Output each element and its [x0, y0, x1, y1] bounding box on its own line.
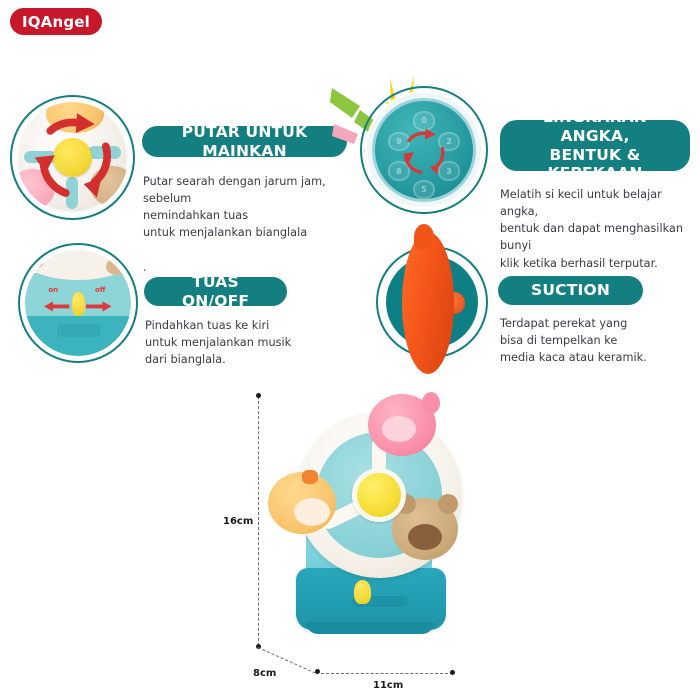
bear-muzzle: [408, 524, 442, 550]
feature-title-banner-1: PUTAR UNTUK MAINKAN: [142, 126, 347, 157]
pig-snout: [382, 416, 416, 442]
dim-dot-top: [256, 393, 261, 398]
chick-crest-icon: [302, 470, 318, 484]
feature-description-1: Putar searah dengan jarum jam, sebelum n…: [143, 173, 358, 276]
dim-dot-right: [450, 670, 455, 675]
feature-description-3: Pindahkan tuas ke kiri untuk menjalankan…: [145, 317, 345, 368]
illustration-on-off-lever: on off: [18, 243, 138, 363]
circle-outer-ring-3: [18, 243, 138, 363]
dim-line-height: [258, 396, 259, 646]
feature-title-4: SUCTION: [531, 281, 610, 300]
chick-belly: [294, 498, 330, 526]
illustration-front-wheel: [10, 95, 135, 220]
dim-dot-corner: [315, 669, 320, 674]
feature-title-2: LINGKARAN ANGKA, BENTUK & KEPEKAAN: [514, 108, 676, 184]
brand-logo: IQAngel: [10, 8, 102, 35]
illustration-suction-cup: [376, 246, 488, 358]
dim-line-width: [321, 673, 453, 674]
dim-label-depth: 8cm: [253, 668, 276, 679]
feature-description-2: Melatih si kecil untuk belajar angka, be…: [500, 186, 700, 272]
suction-cup-body: [402, 232, 454, 374]
product-wheel-hub: [352, 468, 406, 522]
feature-title-banner-2: LINGKARAN ANGKA, BENTUK & KEPEKAAN: [500, 120, 690, 171]
brand-logo-text: IQAngel: [22, 13, 90, 31]
feature-title-1: PUTAR UNTUK MAINKAN: [156, 123, 333, 161]
circle-outer-ring-1: [10, 95, 135, 220]
product-photo: [250, 390, 510, 660]
feature-title-banner-4: SUCTION: [498, 276, 643, 305]
product-lever-knob: [354, 580, 371, 604]
dim-label-height: 16cm: [223, 516, 253, 527]
suction-cup-stem: [414, 224, 434, 250]
pig-ear-icon: [422, 392, 440, 414]
dim-label-width: 11cm: [373, 680, 403, 691]
infographic-page: IQAngel: [0, 0, 700, 700]
product-base-foot: [306, 622, 434, 634]
circle-outer-ring-2: [360, 86, 488, 214]
feature-title-3: TUAS ON/OFF: [158, 273, 273, 311]
illustration-number-disc: 0 2 3 5 8 9: [360, 86, 488, 214]
feature-description-4: Terdapat perekat yang bisa di tempelkan …: [500, 315, 700, 366]
feature-title-banner-3: TUAS ON/OFF: [144, 277, 287, 306]
bear-ear-right-icon: [438, 494, 458, 514]
